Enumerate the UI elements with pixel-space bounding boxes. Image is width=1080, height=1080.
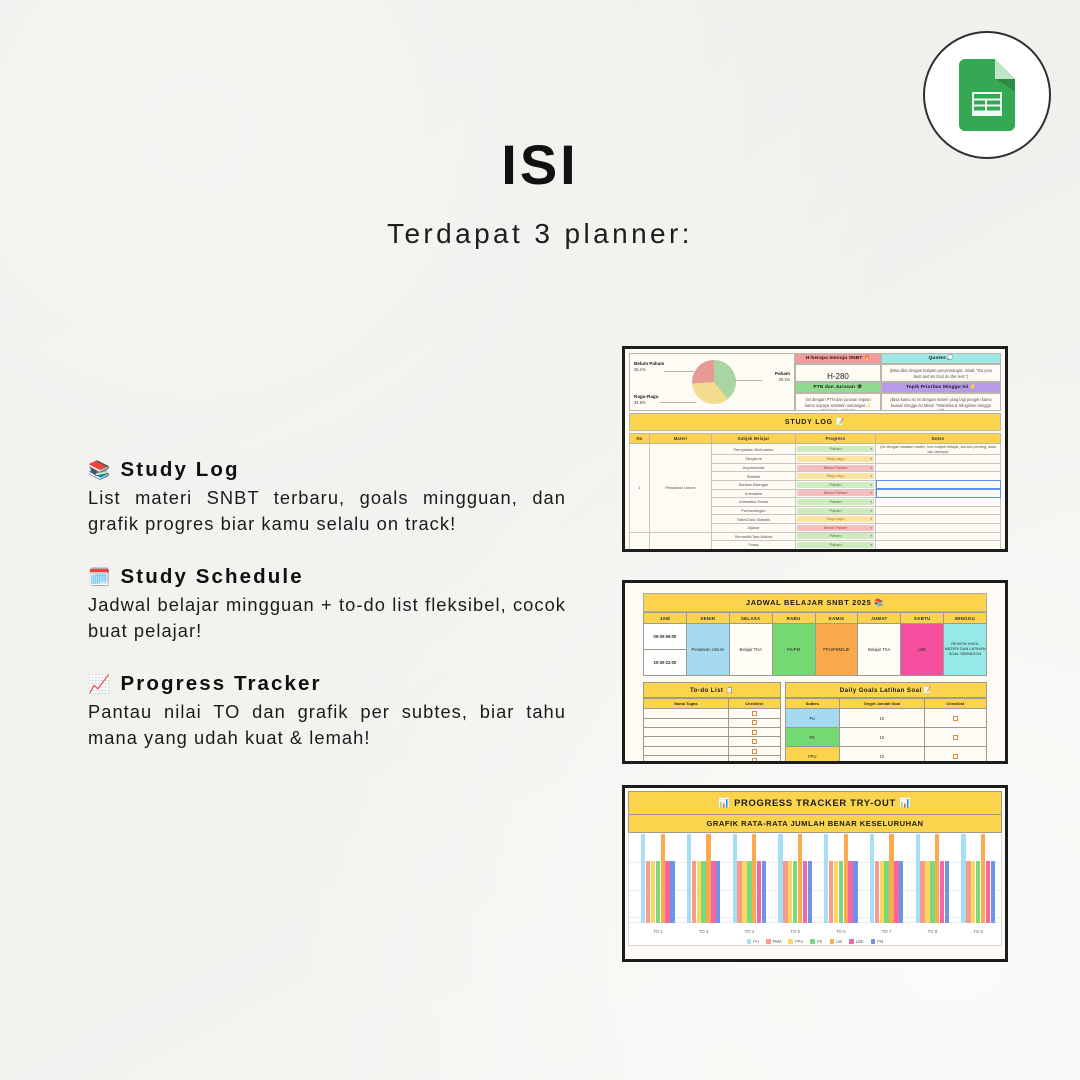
bar-ppu: [834, 861, 838, 923]
cell-progress[interactable]: Paham: [796, 541, 876, 550]
bar-pu: [641, 834, 645, 923]
cell-subjek: Silogisme: [712, 455, 796, 464]
cell-progress[interactable]: Belum Paham: [796, 463, 876, 472]
legend-item-lbe: LBE: [849, 939, 863, 944]
legend-item-pbm: PBM: [766, 939, 781, 944]
x-tick-label: TO 4: [727, 929, 773, 934]
legend-label: PU: [753, 939, 759, 944]
bar-pu: [916, 834, 920, 923]
cell-subjek: Semantik/Tata Makna: [712, 532, 796, 541]
feature-heading: 📚 Study Log: [88, 458, 566, 482]
bar-pbm: [737, 861, 741, 923]
schedule-col-jam: JAM: [644, 613, 687, 624]
list-item: [644, 756, 781, 764]
feature-heading: 🗓️ Study Schedule: [88, 565, 566, 589]
feature-progress-tracker: 📈 Progress Tracker Pantau nilai TO dan g…: [88, 672, 566, 751]
feature-heading: 📈 Progress Tracker: [88, 672, 566, 696]
bar-lbi: [752, 834, 756, 923]
cell-progress[interactable]: Paham: [796, 444, 876, 455]
cell-progress[interactable]: Paham: [796, 506, 876, 515]
bar-pk: [976, 861, 980, 923]
list-item: [644, 709, 781, 718]
x-tick-label: TO 6: [818, 929, 864, 934]
list-item: PK10: [785, 728, 986, 747]
cell-checklist[interactable]: [924, 747, 986, 764]
chart-plot-area: [635, 834, 1001, 923]
bar-pu: [687, 834, 691, 923]
table-row: 05:00-06:00Penalaran UmumBelajar TKAPK/P…: [644, 624, 987, 650]
feature-title: Study Log: [121, 458, 240, 482]
bar-pbm: [829, 861, 833, 923]
feature-body: List materi SNBT terbaru, goals mingguan…: [88, 485, 566, 537]
schedule-col-jumat: JUMAT: [858, 613, 901, 624]
cell-notes[interactable]: [876, 532, 1001, 541]
bar-lbe: [665, 861, 669, 923]
checkbox[interactable]: [953, 735, 958, 740]
table-header-row: JAMSENINSELASARABUKAMISJUMATSABTUMINGGU: [644, 613, 987, 624]
list-item: [644, 737, 781, 746]
table-header-row: Subtes Target Jumlah Soal Checklist: [785, 699, 986, 709]
bar-pk: [839, 861, 843, 923]
legend-item-pu: PU: [747, 939, 759, 944]
cell-notes[interactable]: [876, 463, 1001, 472]
cell-materi: Pengetahuan dan Pemahaman Umum: [650, 532, 712, 552]
cell-no: 1: [630, 444, 650, 533]
cell-checklist[interactable]: [728, 756, 780, 764]
legend-swatch: [830, 939, 835, 944]
legend-label: LBI: [836, 939, 842, 944]
feature-list: 📚 Study Log List materi SNBT terbaru, go…: [88, 458, 566, 751]
feature-title: Progress Tracker: [121, 672, 322, 696]
pie-chart-panel: Belum Paham26.1% Ragu-Ragu34.8% Paham39.…: [629, 353, 795, 411]
bar-lbi: [889, 834, 893, 923]
todo-table: Nama Tugas Checklist: [643, 698, 781, 764]
cell-subjek: Argumentasi: [712, 463, 796, 472]
cell-checklist[interactable]: [728, 727, 780, 736]
list-item: [644, 718, 781, 727]
legend-swatch: [871, 939, 876, 944]
cell-target[interactable]: 10: [839, 747, 924, 764]
pie-label-paham: Paham39.1%: [775, 371, 790, 382]
screenshot-study-log: Belum Paham26.1% Ragu-Ragu34.8% Paham39.…: [622, 346, 1008, 552]
schedule-col-selasa: SELASA: [729, 613, 772, 624]
bar-pu: [733, 834, 737, 923]
legend-item-pk: PK: [810, 939, 822, 944]
checkbox[interactable]: [752, 711, 757, 716]
cell-checklist[interactable]: [728, 737, 780, 746]
cell-notes[interactable]: [876, 498, 1001, 507]
checkbox[interactable]: [953, 754, 958, 759]
bar-group: [864, 834, 910, 923]
cell-subjek: Aritmatika: [712, 489, 796, 498]
bar-lbi: [935, 834, 939, 923]
feature-body: Jadwal belajar mingguan + to-do list fle…: [88, 592, 566, 644]
card-ptn-header: PTN dan Jurusan 🎓: [795, 382, 881, 393]
bar-pbm: [646, 861, 650, 923]
google-sheets-icon: [959, 59, 1015, 131]
cell-checklist[interactable]: [924, 728, 986, 747]
cell-progress[interactable]: Belum Paham: [796, 523, 876, 532]
cell-checklist[interactable]: [728, 718, 780, 727]
cell-progress[interactable]: Paham: [796, 480, 876, 489]
pie-label-ragu-ragu: Ragu-Ragu34.8%: [634, 394, 659, 405]
cell-notes[interactable]: [876, 489, 1001, 498]
legend-item-lbi: LBI: [830, 939, 843, 944]
cell-sabtu[interactable]: LBE: [901, 624, 944, 676]
feature-study-log: 📚 Study Log List materi SNBT terbaru, go…: [88, 458, 566, 537]
bar-pm: [762, 861, 766, 923]
bar-lbe: [711, 861, 715, 923]
cell-nama-tugas[interactable]: [644, 746, 729, 755]
legend-swatch: [810, 939, 815, 944]
cell-subtes: PU: [785, 709, 839, 728]
bar-pbm: [920, 861, 924, 923]
legend-label: PBM: [773, 939, 782, 944]
bar-pm: [853, 861, 857, 923]
schedule-col-minggu: MINGGU: [944, 613, 987, 624]
cell-jumat[interactable]: Belajar TKA: [858, 624, 901, 676]
cell-subjek: Statistik: [712, 472, 796, 481]
pie-label-belum-paham: Belum Paham26.1%: [634, 361, 664, 372]
cell-notes[interactable]: [876, 515, 1001, 524]
cell-progress[interactable]: Ragu-ragu: [796, 472, 876, 481]
bar-ppu: [697, 861, 701, 923]
legend-label: PPU: [795, 939, 803, 944]
x-tick-label: TO 8: [910, 929, 956, 934]
bar-pu: [870, 834, 874, 923]
x-tick-label: TO 5: [772, 929, 818, 934]
bar-ppu: [971, 861, 975, 923]
card-countdown-value: H-280: [795, 364, 881, 382]
legend-item-ppu: PPU: [788, 939, 803, 944]
cell-progress[interactable]: Belum Paham: [796, 489, 876, 498]
todo-banner: To-do List 📋: [643, 682, 781, 698]
schedule-col-rabu: RABU: [772, 613, 815, 624]
legend-label: PM: [877, 939, 883, 944]
schedule-banner: JADWAL BELAJAR SNBT 2025 📚: [643, 593, 987, 612]
list-item: PPU10: [785, 747, 986, 764]
bar-ppu: [788, 861, 792, 923]
bar-pu: [778, 834, 782, 923]
calendar-icon: 🗓️: [88, 568, 113, 586]
x-tick-label: TO 3: [681, 929, 727, 934]
card-quotes-header: Quotes 💭: [881, 353, 1001, 364]
cell-subjek: Aljabar: [712, 523, 796, 532]
bar-pm: [945, 861, 949, 923]
schedule-col-kamis: KAMIS: [815, 613, 858, 624]
bar-pk: [747, 861, 751, 923]
bar-pm: [808, 861, 812, 923]
cell-checklist[interactable]: [924, 709, 986, 728]
card-quotes-body: (Bisa diisi dengan kutipan penyemangat, …: [881, 364, 1001, 382]
books-icon: 📚: [88, 461, 113, 479]
cell-progress[interactable]: Ragu-ragu: [796, 549, 876, 552]
card-ptn-body: (Isi dengan PTN dan jurusan impian kamu …: [795, 393, 881, 411]
cell-nama-tugas[interactable]: [644, 727, 729, 736]
cell-subjek: Majas: [712, 549, 796, 552]
cell-notes[interactable]: (Isi dengan catatan materi, info subjek …: [876, 444, 1001, 455]
cell-nama-tugas[interactable]: [644, 737, 729, 746]
checkbox[interactable]: [752, 720, 757, 725]
bar-lbi: [844, 834, 848, 923]
cell-subjek: Tabel/Data Statistik: [712, 515, 796, 524]
bar-group: [727, 834, 773, 923]
bar-ppu: [651, 861, 655, 923]
bar-lbe: [894, 861, 898, 923]
cell-materi: Penalaran Umum: [650, 444, 712, 533]
cell-notes[interactable]: [876, 480, 1001, 489]
bar-group: [635, 834, 681, 923]
bar-pk: [656, 861, 660, 923]
legend-swatch: [766, 939, 771, 944]
bar-lbi: [661, 834, 665, 923]
checkbox[interactable]: [953, 716, 958, 721]
bar-pk: [793, 861, 797, 923]
cell-nama-tugas[interactable]: [644, 709, 729, 718]
cell-subjek: Perbandingan: [712, 506, 796, 515]
screenshot-study-schedule: JADWAL BELAJAR SNBT 2025 📚 JAMSENINSELAS…: [622, 580, 1008, 764]
cell-nama-tugas[interactable]: [644, 718, 729, 727]
legend-swatch: [747, 939, 752, 944]
study-log-table: No Materi Subjek Belajar Progress Notes …: [629, 433, 1001, 552]
cell-checklist[interactable]: [728, 746, 780, 755]
cell-nama-tugas[interactable]: [644, 756, 729, 764]
bar-pk: [930, 861, 934, 923]
checkbox[interactable]: [752, 749, 757, 754]
cell-selasa[interactable]: Belajar TKA: [729, 624, 772, 676]
slide-canvas: ISI Terdapat 3 planner: 📚 Study Log List…: [0, 0, 1080, 1080]
list-item: [644, 727, 781, 736]
study-log-banner: STUDY LOG 📝: [629, 413, 1001, 431]
cell-subtes: PPU: [785, 747, 839, 764]
bar-lbe: [986, 861, 990, 923]
cell-checklist[interactable]: [728, 709, 780, 718]
cell-subjek: Barisan Bilangan: [712, 480, 796, 489]
cell-kamis[interactable]: PPU/PBM/LBI: [815, 624, 858, 676]
bar-group: [681, 834, 727, 923]
schedule-col-senin: SENIN: [686, 613, 729, 624]
tracker-subbanner: GRAFIK RATA-RATA JUMLAH BENAR KESELURUHA…: [628, 815, 1002, 833]
cell-subjek: Pernyataan Berkuantor: [712, 444, 796, 455]
bar-ppu: [742, 861, 746, 923]
schedule-col-sabtu: SABTU: [901, 613, 944, 624]
feature-title: Study Schedule: [121, 565, 304, 589]
cell-subjek: Frasa: [712, 541, 796, 550]
bar-lbi: [981, 834, 985, 923]
cell-subtes: PK: [785, 728, 839, 747]
table-row: 2Pengetahuan dan Pemahaman UmumSemantik/…: [630, 532, 1001, 541]
legend-swatch: [788, 939, 793, 944]
cell-notes[interactable]: [876, 523, 1001, 532]
checkbox[interactable]: [752, 730, 757, 735]
list-item: [644, 746, 781, 755]
table-header-row: Nama Tugas Checklist: [644, 699, 781, 709]
daily-goals-panel: Daily Goals Latihan Soal 📝 Subtes Target…: [785, 682, 987, 764]
page-title: ISI: [0, 132, 1080, 197]
bar-group: [910, 834, 956, 923]
cell-progress[interactable]: Paham: [796, 532, 876, 541]
bar-group: [955, 834, 1001, 923]
bar-pm: [716, 861, 720, 923]
bar-pk: [701, 861, 705, 923]
bar-pm: [899, 861, 903, 923]
card-topik-body: (Bisa kamu isi ini dengan materi yang la…: [881, 393, 1001, 411]
feature-study-schedule: 🗓️ Study Schedule Jadwal belajar minggua…: [88, 565, 566, 644]
bar-lbe: [848, 861, 852, 923]
bar-lbe: [803, 861, 807, 923]
bar-lbe: [940, 861, 944, 923]
cell-notes[interactable]: [876, 455, 1001, 464]
x-tick-label: TO 7: [864, 929, 910, 934]
table-header-row: No Materi Subjek Belajar Progress Notes: [630, 434, 1001, 444]
bar-pu: [824, 834, 828, 923]
bar-lbi: [798, 834, 802, 923]
schedule-table: JAMSENINSELASARABUKAMISJUMATSABTUMINGGU …: [643, 612, 987, 676]
cell-progress[interactable]: Paham: [796, 498, 876, 507]
cell-notes[interactable]: [876, 549, 1001, 552]
x-tick-label: TO 9: [955, 929, 1001, 934]
bar-ppu: [925, 861, 929, 923]
cell-notes[interactable]: [876, 472, 1001, 481]
card-topik-header: Topik Prioritas Minggu Ini ⭐: [881, 382, 1001, 393]
cell-time: 05:00-06:00: [644, 624, 687, 650]
cell-no: 2: [630, 532, 650, 552]
bar-lbe: [757, 861, 761, 923]
bar-pk: [884, 861, 888, 923]
bar-lbi: [706, 834, 710, 923]
feature-body: Pantau nilai TO dan grafik per subtes, b…: [88, 699, 566, 751]
pie-chart: [692, 360, 736, 404]
bar-group: [772, 834, 818, 923]
tracker-banner: 📊 PROGRESS TRACKER TRY-OUT 📊: [628, 791, 1002, 815]
bar-pu: [961, 834, 965, 923]
bar-pbm: [783, 861, 787, 923]
cell-senin[interactable]: Penalaran Umum: [686, 624, 729, 676]
bar-chart: TO 2TO 3TO 4TO 5TO 6TO 7TO 8TO 9 PUPBMPP…: [628, 834, 1002, 946]
x-tick-label: TO 2: [635, 929, 681, 934]
chart-legend: PUPBMPPUPKLBILBEPM: [629, 939, 1001, 944]
bar-pbm: [692, 861, 696, 923]
legend-item-pm: PM: [871, 939, 884, 944]
bar-group: [818, 834, 864, 923]
bar-ppu: [880, 861, 884, 923]
cell-time: 20:00-22:00: [644, 650, 687, 676]
daily-goals-banner: Daily Goals Latihan Soal 📝: [785, 682, 987, 698]
legend-label: LBE: [856, 939, 864, 944]
table-row: 1Penalaran UmumPernyataan BerkuantorPaha…: [630, 444, 1001, 455]
cell-minggu[interactable]: REVIEW HASIL MATERI DAN LATIHAN SOAL SEM…: [944, 624, 987, 676]
cell-notes[interactable]: [876, 541, 1001, 550]
daily-goals-table: Subtes Target Jumlah Soal Checklist PU10…: [785, 698, 987, 764]
bar-pm: [670, 861, 674, 923]
cell-rabu[interactable]: PK/PM: [772, 624, 815, 676]
bar-pm: [991, 861, 995, 923]
todo-list-panel: To-do List 📋 Nama Tugas Checklist: [643, 682, 781, 764]
checkbox[interactable]: [752, 758, 757, 763]
legend-label: PK: [817, 939, 822, 944]
cell-progress[interactable]: Ragu-ragu: [796, 515, 876, 524]
bar-pbm: [966, 861, 970, 923]
checkbox[interactable]: [752, 739, 757, 744]
card-countdown: H-berapa menuju SNBT 🔥: [795, 353, 881, 364]
list-item: PU10: [785, 709, 986, 728]
chart-increasing-icon: 📈: [88, 675, 113, 693]
page-subtitle: Terdapat 3 planner:: [0, 218, 1080, 250]
cell-target[interactable]: 10: [839, 728, 924, 747]
cell-progress[interactable]: Ragu-ragu: [796, 455, 876, 464]
cell-target[interactable]: 10: [839, 709, 924, 728]
bar-pbm: [875, 861, 879, 923]
legend-swatch: [849, 939, 854, 944]
screenshot-progress-tracker: 📊 PROGRESS TRACKER TRY-OUT 📊 GRAFIK RATA…: [622, 785, 1008, 962]
cell-subjek: Aritmatika Sosial: [712, 498, 796, 507]
cell-notes[interactable]: [876, 506, 1001, 515]
chart-x-axis: TO 2TO 3TO 4TO 5TO 6TO 7TO 8TO 9: [635, 929, 1001, 934]
